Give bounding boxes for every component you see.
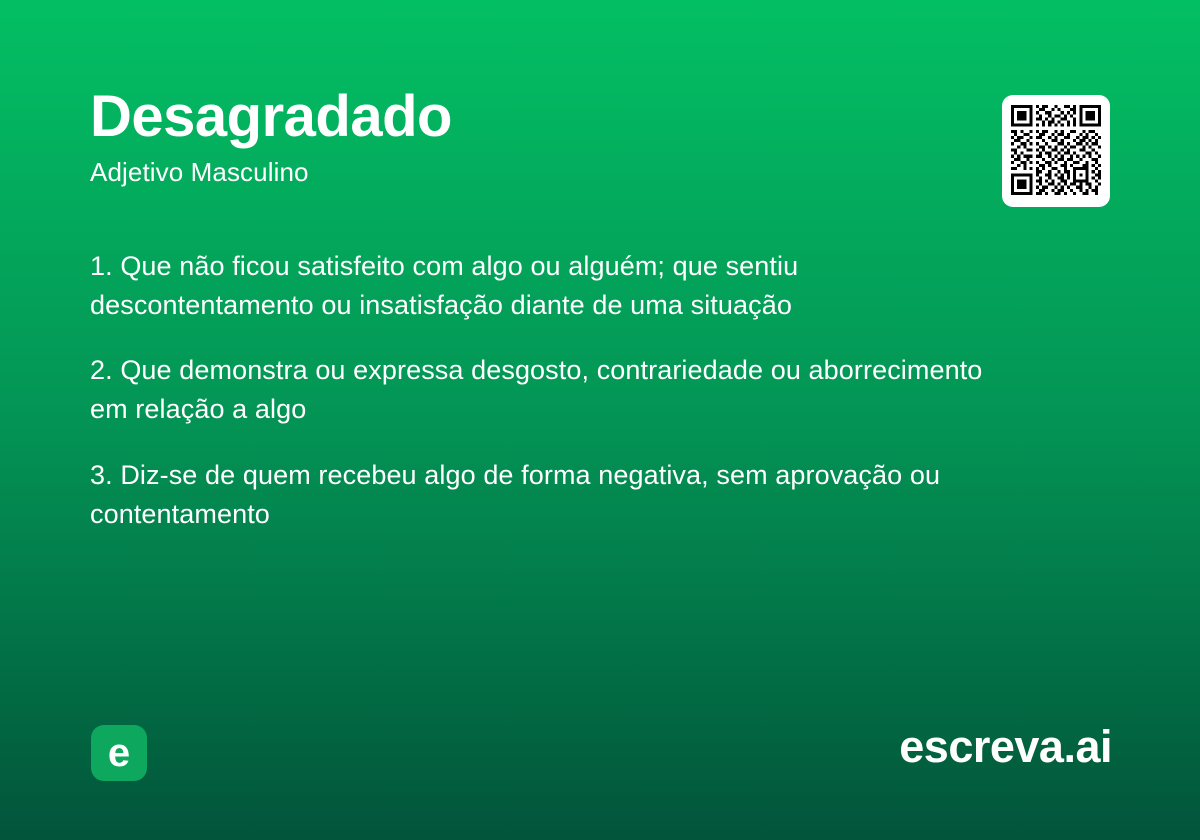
- list-item: 3. Diz-se de quem recebeu algo de forma …: [90, 456, 1020, 534]
- word-class-label: Adjetivo Masculino: [90, 158, 970, 187]
- brand-logo-letter: e: [91, 725, 147, 781]
- list-item: 2. Que demonstra ou expressa desgosto, c…: [90, 351, 1020, 429]
- brand-logo: e: [91, 725, 147, 781]
- word-definition-card: Desagradado Adjetivo Masculino: [0, 0, 1200, 840]
- list-item: 1. Que não ficou satisfeito com algo ou …: [90, 247, 1020, 325]
- brand-wordmark: escreva.ai: [899, 722, 1112, 772]
- definitions-list: 1. Que não ficou satisfeito com algo ou …: [90, 247, 1020, 534]
- card-header: Desagradado Adjetivo Masculino: [90, 88, 970, 187]
- qr-code-icon: [1011, 104, 1101, 196]
- qr-code-card[interactable]: [1002, 95, 1110, 207]
- page-title: Desagradado: [90, 88, 970, 146]
